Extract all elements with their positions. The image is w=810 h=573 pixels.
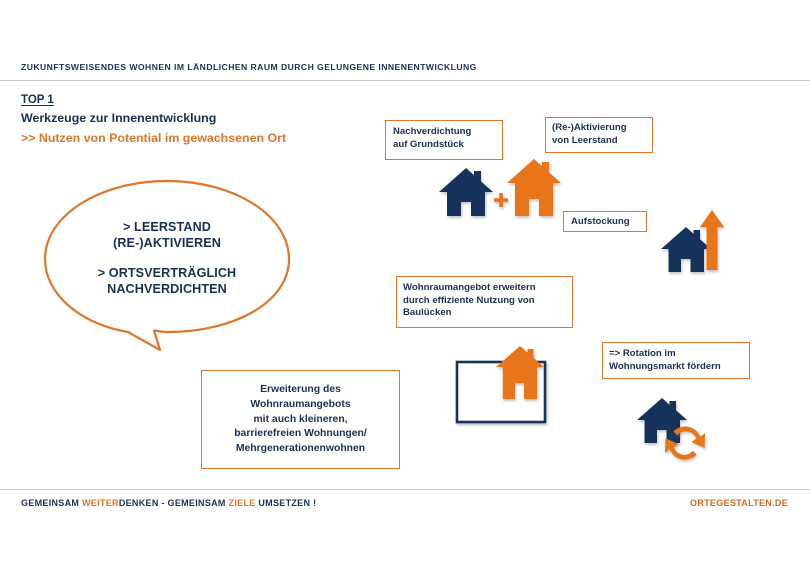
house-icon-navy-1 (437, 166, 495, 218)
footer-slogan-part1: GEMEINSAM (21, 498, 82, 508)
baulücken-line-1: Wohnraumangebot erweitern (403, 282, 572, 295)
rotation-line-2: Wohnungsmarkt fördern (609, 361, 749, 374)
speech-bubble-text: > LEERSTAND (RE-)AKTIVIEREN > ORTSVERTRÄ… (42, 178, 292, 338)
slide-canvas: ZUKUNFTSWEISENDES WOHNEN IM LÄNDLICHEN R… (0, 0, 810, 573)
page-title-sub: Werkzeuge zur Innenentwicklung (21, 111, 216, 125)
footer-slogan-part2: WEITER (82, 498, 119, 508)
callout-baulücken[interactable]: Wohnraumangebot erweitern durch effizien… (396, 276, 573, 328)
header-divider (0, 80, 810, 81)
callout-reaktivierung[interactable]: (Re-)Aktivierung von Leerstand (545, 117, 653, 153)
bubble-line-1: > LEERSTAND (123, 219, 211, 235)
callout-rotation[interactable]: => Rotation im Wohnungsmarkt fördern (602, 342, 750, 379)
nachverdichtung-line-1: Nachverdichtung (393, 126, 502, 139)
house-icon-orange-2 (494, 344, 546, 401)
footer-slogan-part4: ZIELE (229, 498, 256, 508)
footer-brand-link[interactable]: ORTEGESTALTEN.DE (690, 498, 788, 508)
erweiterung-line-5: Mehrgenerationenwohnen (202, 442, 399, 457)
bubble-line-4: NACHVERDICHTEN (107, 281, 227, 297)
bubble-line-3: > ORTSVERTRÄGLICH (98, 265, 237, 281)
footer-slogan: GEMEINSAM WEITERDENKEN - GEMEINSAM ZIELE… (21, 498, 316, 508)
baulücken-line-2: durch effiziente Nutzung von (403, 295, 572, 308)
erweiterung-line-4: barrierefreien Wohnungen/ (202, 427, 399, 442)
slide-header-title: ZUKUNFTSWEISENDES WOHNEN IM LÄNDLICHEN R… (21, 62, 477, 72)
baulücken-line-3: Baulücken (403, 307, 572, 320)
bubble-line-2: (RE-)AKTIVIEREN (113, 235, 221, 251)
callout-nachverdichtung[interactable]: Nachverdichtung auf Grundstück (385, 120, 503, 160)
erweiterung-line-3: mit auch kleineren, (202, 413, 399, 428)
page-title-top: TOP 1 (21, 94, 54, 106)
footer-slogan-part5: UMSETZEN ! (256, 498, 317, 508)
footer-divider (0, 489, 810, 490)
nachverdichtung-line-2: auf Grundstück (393, 139, 502, 152)
rotation-line-1: => Rotation im (609, 348, 749, 361)
aufstockung-line-1: Aufstockung (571, 216, 646, 229)
reaktivierung-line-2: von Leerstand (552, 135, 652, 148)
speech-bubble: > LEERSTAND (RE-)AKTIVIEREN > ORTSVERTRÄ… (42, 178, 292, 356)
page-title-third: >> Nutzen von Potential im gewachsenen O… (21, 131, 286, 145)
rotation-arrows-icon (659, 417, 711, 469)
footer-slogan-part3: DENKEN - GEMEINSAM (119, 498, 229, 508)
reaktivierung-line-1: (Re-)Aktivierung (552, 122, 652, 135)
callout-erweiterung[interactable]: Erweiterung des Wohnraumangebots mit auc… (201, 370, 400, 469)
callout-aufstockung[interactable]: Aufstockung (563, 211, 647, 232)
house-icon-orange-1 (505, 157, 563, 218)
erweiterung-line-2: Wohnraumangebots (202, 398, 399, 413)
arrow-up-icon (698, 208, 726, 272)
erweiterung-line-1: Erweiterung des (202, 383, 399, 398)
